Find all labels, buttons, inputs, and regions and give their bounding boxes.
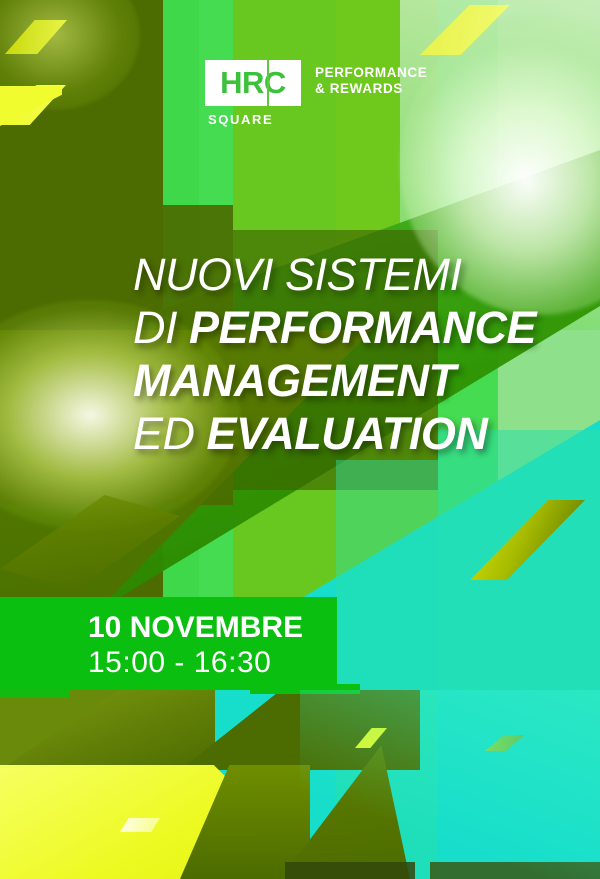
headline-line-1: NUOVI SISTEMI [133,248,573,301]
event-date: 10 NOVEMBRE [88,611,303,645]
logo-tagline: PERFORMANCE & REWARDS [315,65,427,97]
event-poster: HRC SQUARE PERFORMANCE & REWARDS NUOVI S… [0,0,600,879]
event-time: 15:00 - 16:30 [88,646,271,680]
bg-cyan-veil-sweep [300,690,600,879]
headline-evaluation: EVALUATION [207,408,488,459]
logo-tagline-line1: PERFORMANCE [315,65,427,81]
headline-management: MANAGEMENT [133,355,455,406]
logo-mark: HRC [205,60,301,106]
headline-line-2: DI PERFORMANCE [133,301,573,354]
headline-line-3: MANAGEMENT [133,354,573,407]
logo-tagline-line2: & REWARDS [315,81,427,97]
logo-hrc-text: HRC [205,60,301,106]
stripe-teal-bottom-left [0,690,70,698]
headline-nuovi-sistemi: NUOVI SISTEMI [133,249,462,300]
headline-di: DI [133,302,189,353]
headline-performance: PERFORMANCE [189,302,536,353]
logo-divider [267,60,269,106]
headline-line-4: ED EVALUATION [133,407,573,460]
logo: HRC SQUARE PERFORMANCE & REWARDS [205,60,465,145]
logo-square-text: SQUARE [208,112,273,127]
headline-ed: ED [133,408,207,459]
page-title: NUOVI SISTEMI DI PERFORMANCE MANAGEMENT … [133,248,573,460]
